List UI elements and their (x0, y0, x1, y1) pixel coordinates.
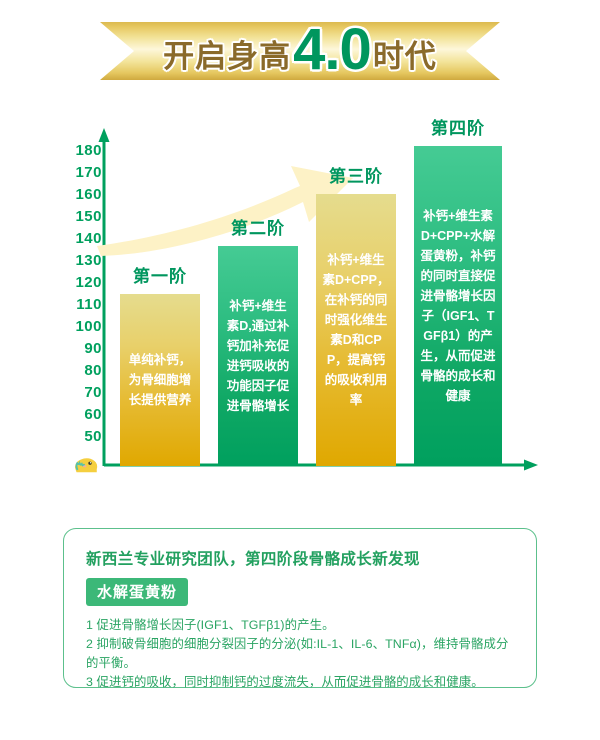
bar-4[interactable]: 补钙+维生素D+CPP+水解蛋黄粉，补钙的同时直接促进骨骼增长因子（IGF1、T… (414, 146, 502, 466)
bar-group-1[interactable]: 第一阶 单纯补钙，为骨细胞增长提供营养 (112, 266, 208, 466)
info-title: 新西兰专业研究团队，第四阶段骨骼成长新发现 (86, 547, 514, 569)
bar-2[interactable]: 补钙+维生素D,通过补钙加补充促进钙吸收的功能因子促进骨骼增长 (218, 246, 298, 466)
bar-label-3: 第三阶 (308, 162, 404, 187)
bar-group-3[interactable]: 第三阶 补钙+维生素D+CPP，在补钙的同时强化维生素D和CPP，提高钙的吸收利… (308, 166, 404, 466)
banner-suffix: 时代 (373, 31, 437, 76)
info-line-2: 2 抑制破骨细胞的细胞分裂因子的分泌(如:IL-1、IL-6、TNFα)，维持骨… (86, 635, 514, 673)
banner-number: 4.0 (293, 21, 371, 79)
banner: 开启身高 4.0 时代 (0, 22, 600, 100)
bar-text-3: 补钙+维生素D+CPP，在补钙的同时强化维生素D和CPP，提高钙的吸收利用率 (316, 250, 396, 410)
banner-prefix: 开启身高 (163, 31, 291, 76)
bar-label-2: 第二阶 (210, 214, 306, 239)
bar-series: 第一阶 单纯补钙，为骨细胞增长提供营养 第二阶 补钙+维生素D,通过补钙加补充促… (0, 118, 600, 508)
bar-label-4: 第四阶 (406, 114, 510, 139)
bar-label-1: 第一阶 (112, 262, 208, 287)
bar-1[interactable]: 单纯补钙，为骨细胞增长提供营养 (120, 294, 200, 466)
bar-chart: 180 170 160 150 140 130 120 110 100 90 8… (0, 118, 600, 508)
bar-text-1: 单纯补钙，为骨细胞增长提供营养 (120, 350, 200, 410)
dinosaur-mascot-icon (72, 454, 102, 480)
info-line-1: 1 促进骨骼增长因子(IGF1、TGFβ1)的产生。 (86, 616, 514, 635)
banner-text: 开启身高 4.0 时代 (100, 22, 500, 80)
bar-3[interactable]: 补钙+维生素D+CPP，在补钙的同时强化维生素D和CPP，提高钙的吸收利用率 (316, 194, 396, 466)
bar-text-4: 补钙+维生素D+CPP+水解蛋黄粉，补钙的同时直接促进骨骼增长因子（IGF1、T… (414, 206, 502, 406)
info-badge: 水解蛋黄粉 (86, 578, 188, 606)
bar-group-2[interactable]: 第二阶 补钙+维生素D,通过补钙加补充促进钙吸收的功能因子促进骨骼增长 (210, 218, 306, 466)
info-line-3: 3 促进钙的吸收，同时抑制钙的过度流失，从而促进骨骼的成长和健康。 (86, 673, 514, 692)
info-card: 新西兰专业研究团队，第四阶段骨骼成长新发现 水解蛋黄粉 1 促进骨骼增长因子(I… (63, 528, 537, 688)
info-list: 1 促进骨骼增长因子(IGF1、TGFβ1)的产生。 2 抑制破骨细胞的细胞分裂… (86, 616, 514, 692)
bar-text-2: 补钙+维生素D,通过补钙加补充促进钙吸收的功能因子促进骨骼增长 (218, 296, 298, 416)
bar-group-4[interactable]: 第四阶 补钙+维生素D+CPP+水解蛋黄粉，补钙的同时直接促进骨骼增长因子（IG… (406, 118, 510, 466)
